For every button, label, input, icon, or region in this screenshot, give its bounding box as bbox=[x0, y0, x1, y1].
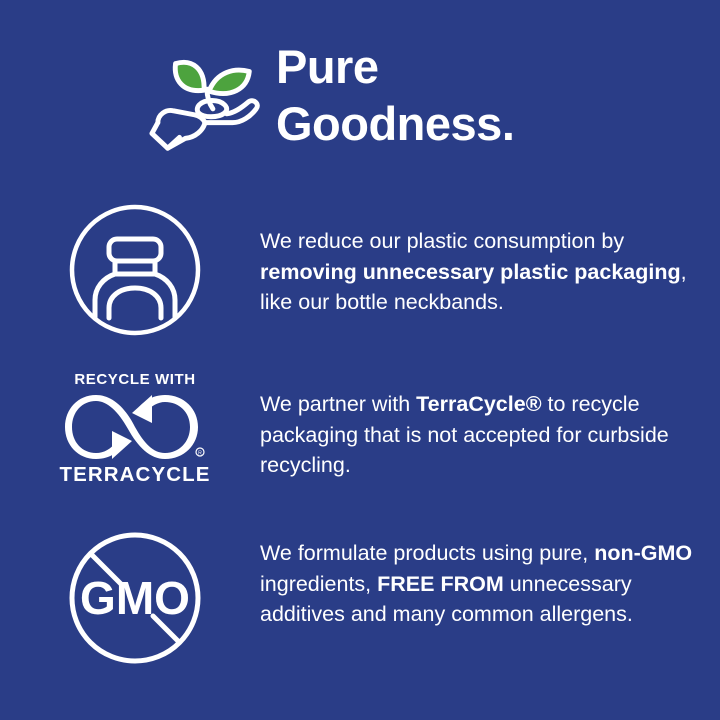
bottle-in-circle-icon bbox=[65, 200, 205, 340]
body-text: ingredients, bbox=[260, 572, 377, 596]
feature-row-plastic-reduction: We reduce our plastic consumption by rem… bbox=[0, 200, 720, 340]
feature-text-terracycle: We partner with TerraCycle® to recycle p… bbox=[260, 372, 720, 481]
no-gmo-icon: GMO bbox=[65, 528, 205, 668]
header: Pure Goodness. bbox=[148, 38, 514, 160]
hand-holding-sprout-icon bbox=[148, 42, 266, 160]
icon-cell bbox=[0, 200, 260, 340]
recycle-infinity-loop-icon: R bbox=[60, 391, 210, 463]
page-title-line-2: Goodness. bbox=[276, 95, 514, 152]
feature-row-terracycle: RECYCLE WITH R TERRACYCLE We partner wit… bbox=[0, 372, 720, 486]
emphasis-text: removing unnecessary plastic packaging bbox=[260, 260, 681, 284]
feature-text-plastic-reduction: We reduce our plastic consumption by rem… bbox=[260, 200, 720, 318]
no-gmo-label: GMO bbox=[80, 572, 190, 624]
emphasis-text: non-GMO bbox=[594, 541, 692, 565]
feature-text-non-gmo: We formulate products using pure, non-GM… bbox=[260, 528, 720, 630]
body-text: We reduce our plastic consumption by bbox=[260, 229, 624, 253]
body-text: We partner with bbox=[260, 392, 416, 416]
emphasis-text: TerraCycle® bbox=[416, 392, 541, 416]
terracycle-bottom-label: TERRACYCLE bbox=[59, 465, 210, 486]
page-title: Pure Goodness. bbox=[276, 38, 514, 153]
pure-goodness-infographic: Pure Goodness. We reduce our plast bbox=[0, 0, 720, 720]
svg-text:R: R bbox=[198, 451, 202, 457]
terracycle-top-label: RECYCLE WITH bbox=[74, 372, 195, 387]
icon-cell: GMO bbox=[0, 528, 260, 668]
terracycle-logo: RECYCLE WITH R TERRACYCLE bbox=[60, 372, 210, 486]
icon-cell: RECYCLE WITH R TERRACYCLE bbox=[0, 372, 260, 486]
body-text: We formulate products using pure, bbox=[260, 541, 594, 565]
feature-row-non-gmo: GMO We formulate products using pure, no… bbox=[0, 528, 720, 668]
page-title-line-1: Pure bbox=[276, 38, 514, 95]
emphasis-text: FREE FROM bbox=[377, 572, 504, 596]
